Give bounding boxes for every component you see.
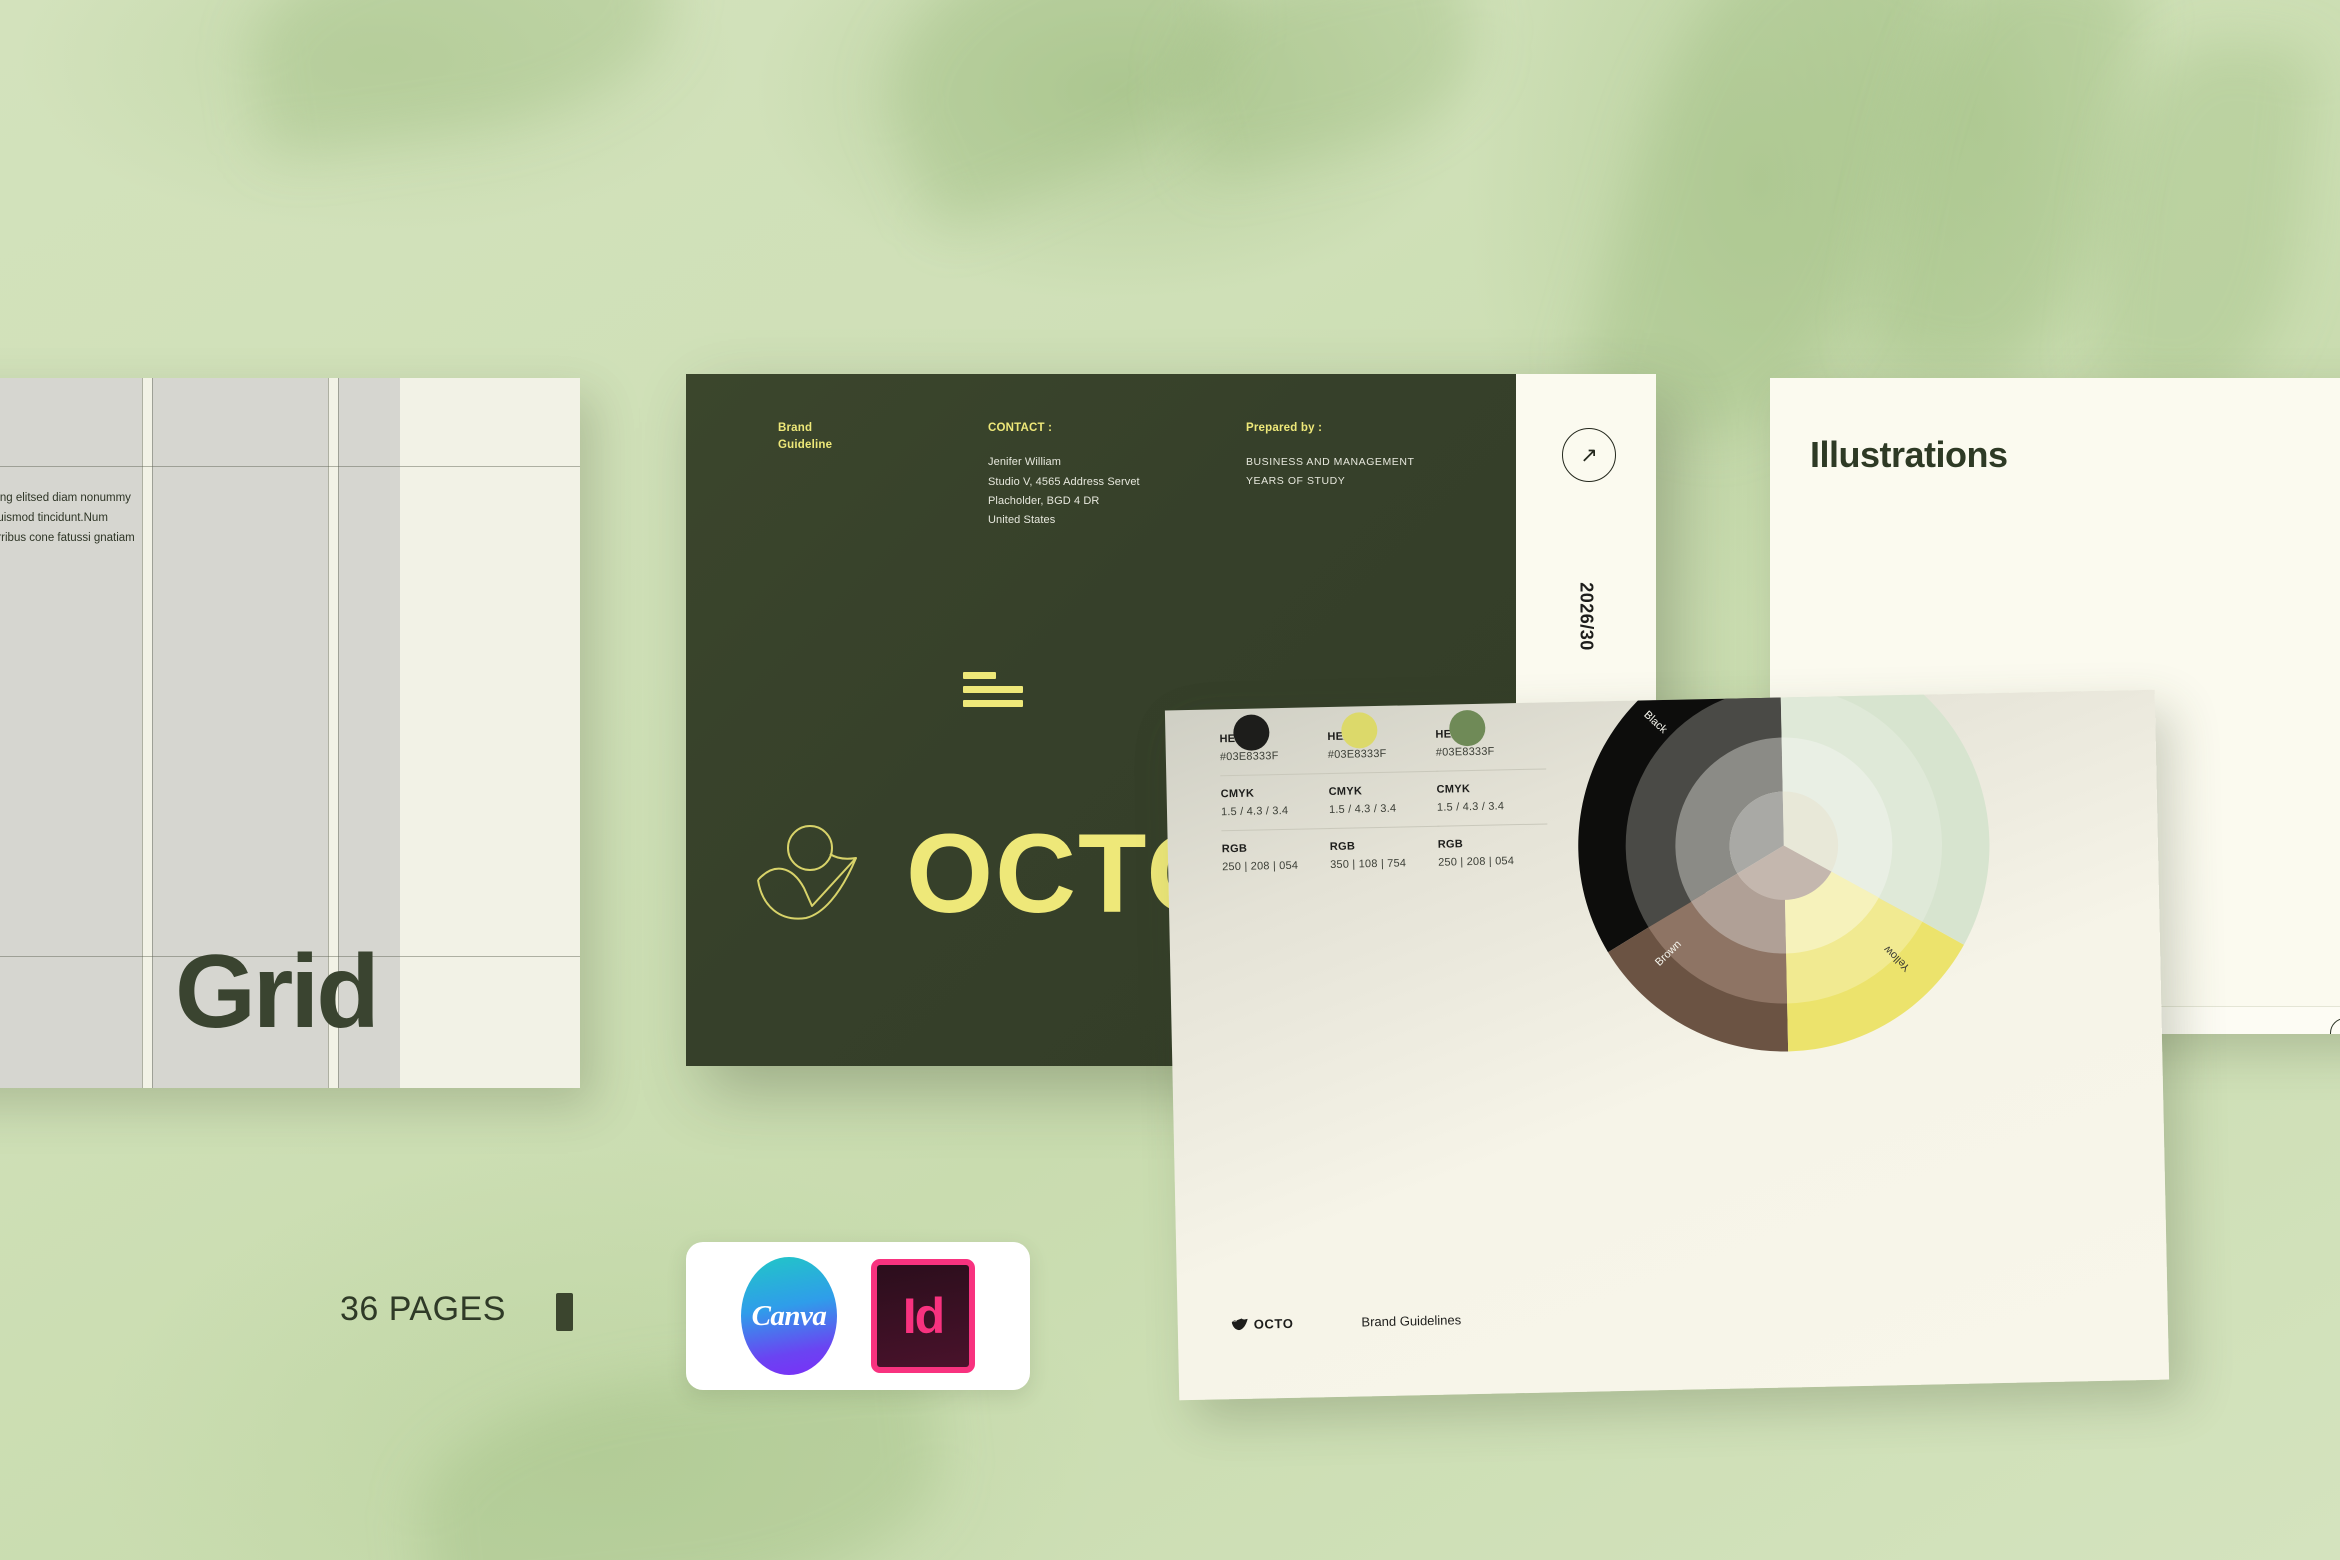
divider [1328,771,1438,774]
divider [1221,828,1331,831]
bird-mark-icon [756,814,884,934]
cover-logo: OCTO [756,814,1236,934]
carousel-controls[interactable]: ‹ › [2330,1018,2340,1034]
swatch-value: 250 | 208 | 054 [1222,859,1332,873]
swatch-circle [1233,714,1270,751]
grid-page: Dipiscing elitsed diam nonummy nibh euis… [0,378,580,1088]
cover-contact-line: Placholder, BGD 4 DR [988,492,1140,511]
carousel-prev-icon[interactable]: ‹ [2330,1018,2340,1034]
swatch-key: CMYK [1436,781,1546,795]
indesign-logo-icon: Id [871,1259,975,1373]
grid-guide-line [142,378,143,1088]
footer-logo-text: OCTO [1254,1316,1294,1332]
grid-headline: Grid [175,933,377,1052]
page-title: Illustrations [1810,434,2008,476]
swatch-key: RGB [1222,841,1332,855]
swatch-column: HEX #03E8333F CMYK 1.5 / 4.3 / 3.4 RGB 2… [1219,731,1332,873]
cover-contact-line: United States [988,511,1140,530]
swatch-column: HEX #03E8333F CMYK 1.5 / 4.3 / 3.4 RGB 3… [1327,729,1440,871]
swatch-value: 1.5 / 4.3 / 3.4 [1329,802,1439,816]
swatch-value: #03E8333F [1328,747,1438,761]
divider [1436,768,1546,771]
swatch-value: 1.5 / 4.3 / 3.4 [1221,804,1331,818]
swatch-value: 350 | 108 | 754 [1330,857,1440,871]
indesign-label: Id [903,1287,943,1345]
color-wheel: Black Brown Yellow [1549,690,2019,1081]
software-badges: Canva Id [686,1242,1030,1390]
grid-column-band [0,378,142,1088]
cover-brand-label: Brand Guideline [778,420,832,455]
arrow-up-right-icon[interactable]: ↗ [1562,428,1616,482]
canva-label: Canva [752,1300,827,1333]
menu-lines-icon [963,672,1023,707]
swatch-key: CMYK [1329,784,1439,798]
swatch-key: RGB [1438,836,1548,850]
grid-guide-line [152,378,153,1088]
pages-marker-icon [556,1293,573,1331]
swatch-circle [1449,710,1486,747]
footer-text: Brand Guidelines [1361,1312,1461,1329]
cover-contact-label: CONTACT : [988,420,1140,437]
swatch-key: CMYK [1221,786,1331,800]
cover-prepared-block: Prepared by : BUSINESS AND MANAGEMENT YE… [1246,420,1414,491]
grid-body-text: Dipiscing elitsed diam nonummy nibh euis… [0,488,146,548]
pages-count-label: 36 PAGES [340,1290,506,1329]
swatch-key: RGB [1330,839,1440,853]
swatch-column: HEX #03E8333F CMYK 1.5 / 4.3 / 3.4 RGB 2… [1435,726,1548,868]
cover-prepared-line: YEARS OF STUDY [1246,472,1414,491]
bird-mark-icon [1232,1317,1249,1331]
cover-contact-line: Jenifer William [988,453,1140,472]
spine-year: 2026/30 [1576,582,1597,651]
cover-brand-line2: Guideline [778,437,832,454]
cover-contact-line: Studio V, 4565 Address Servet [988,473,1140,492]
divider [1437,823,1547,826]
swatch-circle [1341,712,1378,749]
footer-logo: OCTO [1232,1316,1294,1332]
cover-prepared-label: Prepared by : [1246,420,1414,437]
swatch-value: 1.5 / 4.3 / 3.4 [1437,799,1547,813]
divider [1329,826,1439,829]
cover-contact-block: CONTACT : Jenifer William Studio V, 4565… [988,420,1140,530]
swatch-value: 250 | 208 | 054 [1438,854,1548,868]
cover-brand-line1: Brand [778,420,832,437]
color-palette-page: Black Brown Yellow HEX #03E8333F CMYK 1.… [1165,690,2169,1401]
page-footer: OCTO Brand Guidelines [1232,1312,1462,1332]
swatch-value: #03E8333F [1220,749,1330,763]
canva-logo-icon: Canva [741,1257,837,1375]
divider [1220,773,1330,776]
swatch-value: #03E8333F [1436,744,1546,758]
grid-guide-line [0,466,580,467]
cover-prepared-line: BUSINESS AND MANAGEMENT [1246,453,1414,472]
